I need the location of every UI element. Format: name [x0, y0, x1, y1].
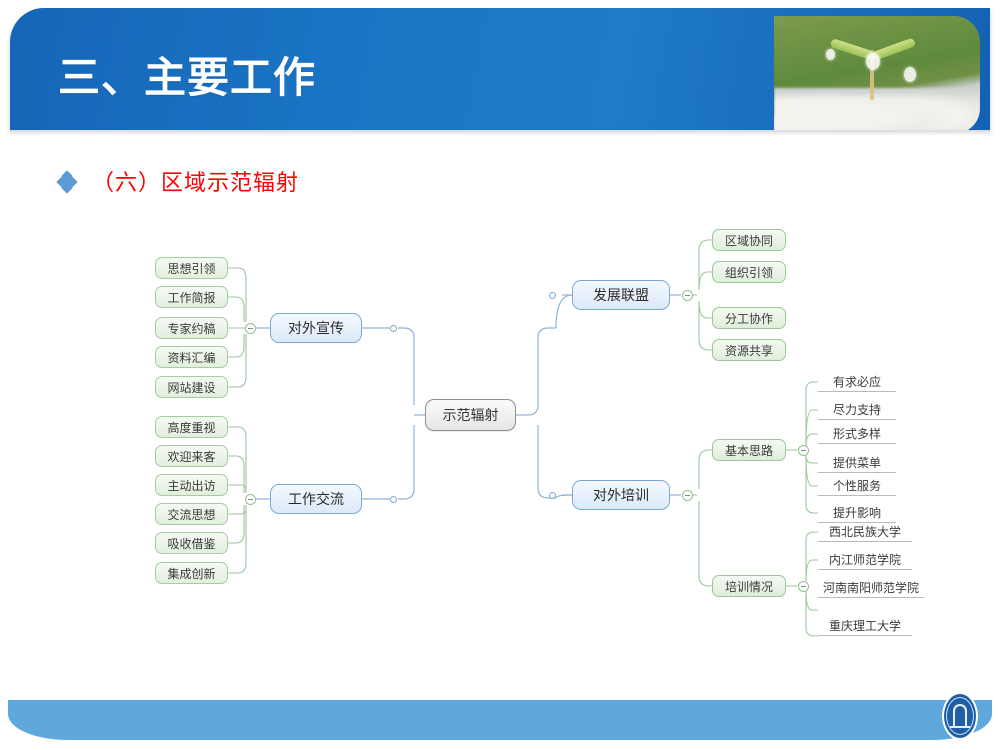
- mind-map-connectors: [0, 210, 1000, 680]
- branch-endpoint-dot[interactable]: [549, 292, 556, 299]
- mindmap-text-leaf[interactable]: 有求必应: [818, 372, 896, 392]
- mindmap-text-leaf[interactable]: 河南南阳师范学院: [818, 578, 924, 598]
- mindmap-text-leaf[interactable]: 提升影响: [818, 503, 896, 523]
- mindmap-leaf[interactable]: 组织引领: [712, 261, 786, 283]
- collapse-toggle-jibensilu[interactable]: [798, 445, 809, 456]
- university-seal-logo: [942, 692, 978, 740]
- mindmap-leaf[interactable]: 集成创新: [155, 562, 228, 584]
- mindmap-text-leaf[interactable]: 提供菜单: [818, 453, 896, 473]
- mindmap-leaf[interactable]: 交流思想: [155, 503, 228, 525]
- collapse-toggle-lianmeng[interactable]: [682, 290, 693, 301]
- mindmap-leaf[interactable]: 欢迎来客: [155, 445, 228, 467]
- mindmap-branch-node[interactable]: 对外培训: [572, 480, 670, 510]
- seedling-dew-photo: [774, 16, 980, 134]
- collapse-toggle-peixun[interactable]: [682, 490, 693, 501]
- branch-endpoint-dot[interactable]: [549, 492, 556, 499]
- mindmap-leaf[interactable]: 区域协同: [712, 229, 786, 251]
- mindmap-leaf[interactable]: 专家约稿: [155, 317, 228, 339]
- mindmap-text-leaf[interactable]: 个性服务: [818, 476, 896, 496]
- mindmap-leaf[interactable]: 高度重视: [155, 416, 228, 438]
- mindmap-root-node[interactable]: 示范辐射: [425, 399, 516, 431]
- mindmap-leaf[interactable]: 工作简报: [155, 286, 228, 308]
- photo-pebbles: [774, 88, 980, 134]
- mindmap-branch-node[interactable]: 发展联盟: [572, 280, 670, 310]
- mindmap-text-leaf[interactable]: 内江师范学院: [818, 550, 912, 570]
- mindmap-leaf[interactable]: 吸收借鉴: [155, 532, 228, 554]
- mindmap-text-leaf[interactable]: 重庆理工大学: [818, 616, 912, 636]
- page-title: 三、主要工作: [58, 44, 316, 105]
- mindmap-branch-node[interactable]: 对外宣传: [270, 313, 362, 343]
- subtitle-text: （六）区域示范辐射: [92, 165, 299, 197]
- mindmap-branch-node[interactable]: 工作交流: [270, 484, 362, 514]
- mindmap-subbranch-node[interactable]: 培训情况: [712, 575, 786, 597]
- slide-header-bar: 三、主要工作: [10, 8, 990, 130]
- photo-waterdrop: [826, 49, 835, 60]
- mindmap-leaf[interactable]: 思想引领: [155, 257, 228, 279]
- mindmap-leaf[interactable]: 主动出访: [155, 474, 228, 496]
- collapse-toggle-jiaoliu[interactable]: [245, 494, 256, 505]
- photo-waterdrop: [904, 67, 916, 82]
- subtitle-row: （六）区域示范辐射: [58, 165, 299, 197]
- mindmap-leaf[interactable]: 资源共享: [712, 339, 786, 361]
- mindmap-text-leaf[interactable]: 形式多样: [818, 424, 896, 444]
- collapse-toggle-xuanchuan[interactable]: [245, 323, 256, 334]
- mindmap-leaf[interactable]: 资料汇编: [155, 346, 228, 368]
- mindmap-subbranch-node[interactable]: 基本思路: [712, 439, 786, 461]
- mindmap-leaf[interactable]: 分工协作: [712, 307, 786, 329]
- diamond-bullet-icon: [58, 172, 76, 190]
- collapse-toggle-peixunqingkuang[interactable]: [798, 581, 809, 592]
- slide-footer-bar: [8, 700, 992, 740]
- mindmap-text-leaf[interactable]: 尽力支持: [818, 400, 896, 420]
- mind-map: 示范辐射 思想引领 工作简报 专家约稿 资料汇编 网站建设 对外宣传 高度重视 …: [0, 210, 1000, 680]
- branch-endpoint-dot[interactable]: [390, 325, 397, 332]
- mindmap-text-leaf[interactable]: 西北民族大学: [818, 522, 912, 542]
- photo-waterdrop: [866, 53, 880, 70]
- mindmap-leaf[interactable]: 网站建设: [155, 376, 228, 398]
- branch-endpoint-dot[interactable]: [390, 496, 397, 503]
